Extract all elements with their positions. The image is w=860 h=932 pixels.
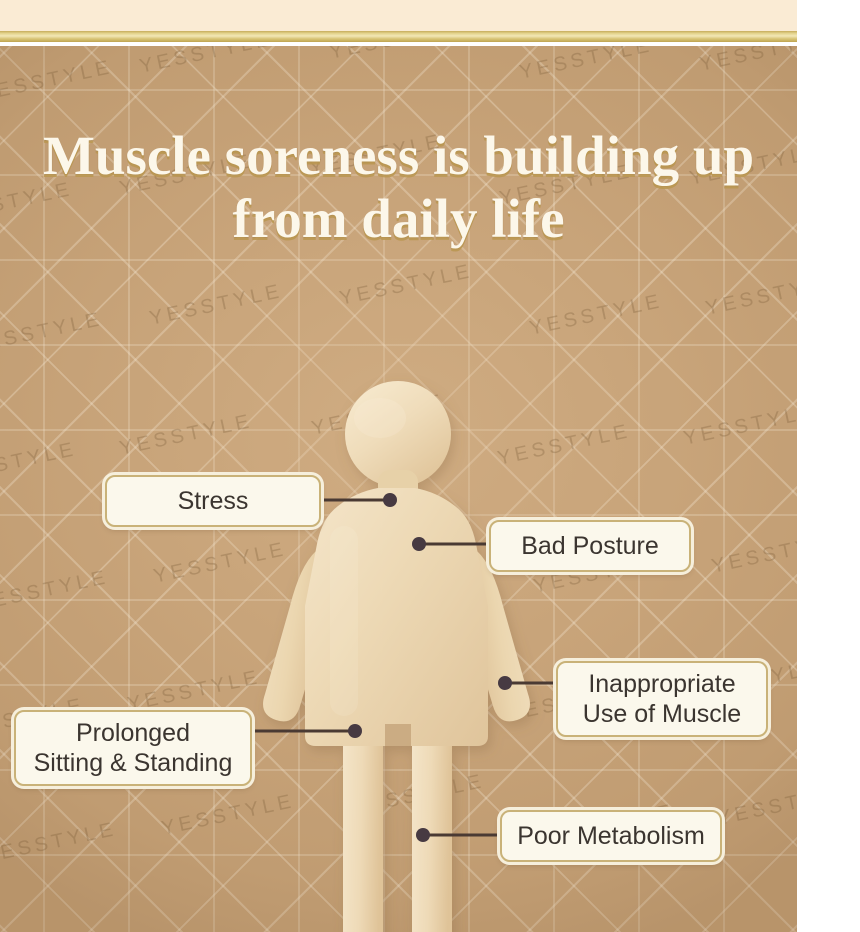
gold-divider-bar: [0, 31, 797, 42]
infographic-root: YESSTYLEYESSTYLEYESSTYLEYESSTYLEYESSTYLE…: [0, 0, 860, 932]
connector-dot-stress: [383, 493, 397, 507]
callout-label-line: Inappropriate: [583, 669, 741, 699]
connector-dot-inappropriate-use-of-muscle: [498, 676, 512, 690]
main-panel: YESSTYLEYESSTYLEYESSTYLEYESSTYLEYESSTYLE…: [0, 46, 797, 932]
callout-label-line: Bad Posture: [521, 531, 659, 561]
callout-bad-posture[interactable]: Bad Posture: [489, 520, 691, 572]
callout-prolonged-sitting-standing[interactable]: ProlongedSitting & Standing: [14, 710, 252, 786]
callout-label-prolonged-sitting-standing: ProlongedSitting & Standing: [34, 718, 233, 778]
callout-label-line: Stress: [178, 486, 249, 516]
connector-dot-bad-posture: [412, 537, 426, 551]
callout-label-stress: Stress: [178, 486, 249, 516]
callout-stress[interactable]: Stress: [105, 475, 321, 527]
callout-label-line: Poor Metabolism: [517, 821, 705, 851]
callout-label-line: Prolonged: [34, 718, 233, 748]
callout-label-poor-metabolism: Poor Metabolism: [517, 821, 705, 851]
callout-label-line: Use of Muscle: [583, 699, 741, 729]
callout-label-inappropriate-use-of-muscle: InappropriateUse of Muscle: [583, 669, 741, 729]
callout-label-line: Sitting & Standing: [34, 748, 233, 778]
callout-inappropriate-use-of-muscle[interactable]: InappropriateUse of Muscle: [556, 661, 768, 737]
callout-poor-metabolism[interactable]: Poor Metabolism: [500, 810, 722, 862]
callout-label-bad-posture: Bad Posture: [521, 531, 659, 561]
top-cream-band: [0, 0, 797, 31]
connector-dot-poor-metabolism: [416, 828, 430, 842]
connector-dot-prolonged-sitting-standing: [348, 724, 362, 738]
